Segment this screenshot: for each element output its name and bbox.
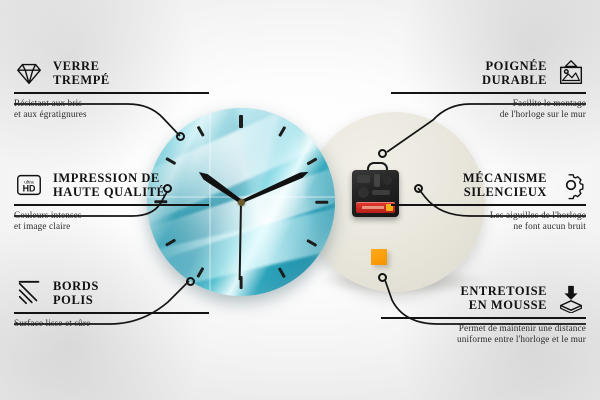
feature-title: IMPRESSION DE HAUTE QUALITÉ <box>53 171 165 200</box>
feature-header: ENTRETOISE EN MOUSSE <box>381 283 586 313</box>
feature-description: Facilite le montage de l'horloge sur le … <box>391 98 586 121</box>
hanging-frame-icon <box>556 58 586 88</box>
callout-node-entretoise <box>378 273 387 282</box>
feature-verre-trempe: VERRE TREMPÉ Résistant aux bris et aux é… <box>14 58 209 120</box>
feature-divider <box>391 92 586 94</box>
feature-bords-polis: BORDS POLIS Surface lisse et sûre <box>14 278 209 329</box>
feature-divider <box>391 204 586 206</box>
svg-text:HD: HD <box>23 184 36 194</box>
feature-divider <box>14 312 209 314</box>
feature-description: Permet de maintenir une distance uniform… <box>381 323 586 346</box>
feature-poignee-durable: POIGNÉE DURABLE Facilite le montage de l… <box>391 58 586 120</box>
feature-impression-haute-qualite: ultra HD IMPRESSION DE HAUTE QUALITÉ Cou… <box>14 170 209 232</box>
feature-description: Résistant aux bris et aux égratignures <box>14 98 209 121</box>
feature-divider <box>14 204 209 206</box>
feature-description: Surface lisse et sûre <box>14 318 209 329</box>
feature-header: MÉCANISME SILENCIEUX <box>391 170 586 200</box>
feature-divider <box>14 92 209 94</box>
feature-header: BORDS POLIS <box>14 278 209 308</box>
feature-divider <box>381 317 586 319</box>
feature-header: POIGNÉE DURABLE <box>391 58 586 88</box>
diamond-icon <box>14 58 44 88</box>
ultra-hd-icon: ultra HD <box>14 170 44 200</box>
feature-title: VERRE TREMPÉ <box>53 59 110 88</box>
feature-title: ENTRETOISE EN MOUSSE <box>460 284 547 313</box>
feature-description: Les aiguilles de l'horloge ne font aucun… <box>391 210 586 233</box>
feature-description: Couleurs intenses et image claire <box>14 210 209 233</box>
feature-header: ultra HD IMPRESSION DE HAUTE QUALITÉ <box>14 170 209 200</box>
gear-icon <box>556 170 586 200</box>
foam-spacer-icon <box>556 283 586 313</box>
feature-title: MÉCANISME SILENCIEUX <box>463 171 547 200</box>
infographic-canvas: VERRE TREMPÉ Résistant aux bris et aux é… <box>0 0 600 400</box>
feature-header: VERRE TREMPÉ <box>14 58 209 88</box>
feature-entretoise-en-mousse: ENTRETOISE EN MOUSSE Permet de maintenir… <box>381 283 586 345</box>
feature-title: BORDS POLIS <box>53 279 99 308</box>
feature-mecanisme-silencieux: MÉCANISME SILENCIEUX Les aiguilles de l'… <box>391 170 586 232</box>
callout-node-poignee <box>378 149 387 158</box>
callout-node-verre-trempe <box>176 132 185 141</box>
polished-edges-icon <box>14 278 44 308</box>
feature-title: POIGNÉE DURABLE <box>482 59 547 88</box>
